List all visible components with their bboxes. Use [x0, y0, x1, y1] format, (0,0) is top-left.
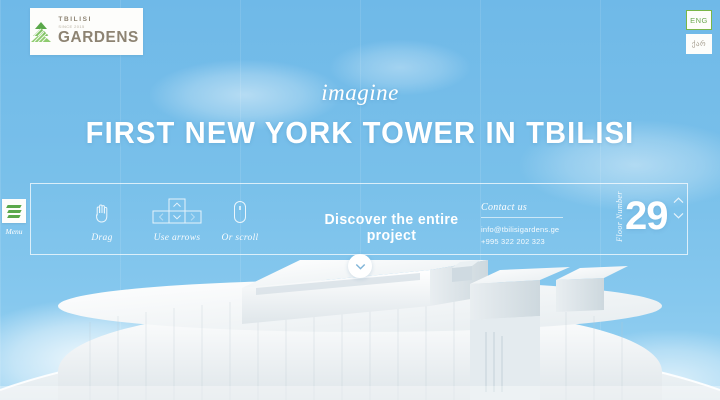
control-bar: Drag Use arrows — [30, 183, 688, 255]
menu-bar — [7, 210, 21, 213]
hamburger-menu-icon[interactable] — [2, 199, 26, 223]
page-title: FIRST NEW YORK TOWER IN TBILISI — [22, 115, 699, 151]
logo-primary-text: TBILISI — [58, 17, 92, 24]
floor-number-widget: Floor Number 29 — [603, 192, 689, 250]
hero-page: TBILISI SINCE 2015 GARDENS ENG ქარ imagi… — [0, 0, 720, 400]
hint-drag: Drag — [73, 198, 131, 243]
scroll-down-button[interactable] — [348, 254, 372, 278]
hint-label: Or scroll — [211, 233, 269, 243]
logo-secondary-text: GARDENS — [58, 30, 139, 46]
menu-bar — [7, 215, 20, 218]
arrow-keys-icon — [141, 198, 213, 224]
language-option-eng[interactable]: ENG — [686, 10, 712, 30]
floor-steppers — [673, 197, 684, 219]
contact-block: Contact us info@tbilisigardens.ge +995 3… — [481, 202, 599, 247]
floor-number-value: 29 — [625, 196, 668, 236]
leaf-logo-icon — [30, 20, 52, 44]
site-logo[interactable]: TBILISI SINCE 2015 GARDENS — [30, 8, 143, 55]
hero-eyebrow: imagine — [0, 80, 720, 106]
logo-wordmark: TBILISI SINCE 2015 GARDENS — [58, 17, 142, 46]
chevron-up-icon[interactable] — [673, 197, 684, 204]
contact-phone[interactable]: +995 322 202 323 — [481, 236, 599, 248]
mouse-scroll-icon — [211, 198, 269, 224]
discover-project-button[interactable]: Discover the entire project — [302, 212, 481, 244]
menu-label: Menu — [2, 227, 26, 236]
divider — [481, 217, 563, 218]
hand-drag-icon — [73, 198, 131, 224]
hint-or-scroll: Or scroll — [211, 198, 269, 243]
chevron-down-icon — [355, 263, 366, 270]
hint-use-arrows: Use arrows — [141, 198, 213, 243]
floor-number-label: Floor Number — [615, 191, 624, 242]
language-switcher[interactable]: ENG ქარ — [686, 10, 712, 54]
contact-title: Contact us — [481, 202, 599, 213]
hint-label: Drag — [73, 233, 131, 243]
menu-bar — [6, 205, 21, 208]
hint-label: Use arrows — [141, 233, 213, 243]
menu-toggle[interactable]: Menu — [2, 199, 26, 236]
contact-email[interactable]: info@tbilisigardens.ge — [481, 224, 599, 236]
chevron-down-icon[interactable] — [673, 212, 684, 219]
language-option-geo[interactable]: ქარ — [686, 34, 712, 54]
